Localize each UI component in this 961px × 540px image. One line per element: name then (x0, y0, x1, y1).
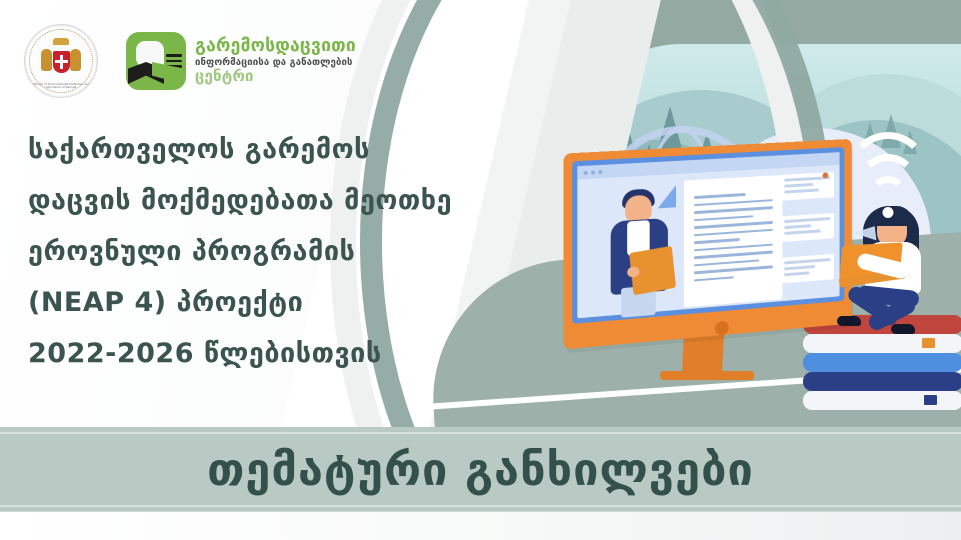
monitor-power-button[interactable] (715, 321, 729, 336)
monitor-screen (572, 147, 844, 324)
banner-underlay (0, 512, 961, 540)
monitor-stand (682, 332, 724, 374)
headline-line-1: საქართველოს გარემოს (28, 124, 452, 175)
lion-right-icon (70, 49, 81, 71)
logo-row: Ministry of Environmental Protection and… (24, 24, 356, 98)
headline-line-3: ეროვნული პროგრამის (28, 226, 452, 277)
banner-title: თემატური განხილვები (207, 447, 754, 492)
eiec-book-mark-icon (126, 32, 186, 90)
eiec-line-3: ცენტრი (195, 68, 356, 86)
bottom-banner: თემატური განხილვები (0, 427, 961, 512)
ministry-seal-logo: Ministry of Environmental Protection and… (24, 24, 98, 98)
shield-icon (53, 51, 70, 73)
screen-content (577, 152, 839, 318)
sidebar-card (781, 254, 834, 284)
shoe (837, 316, 861, 326)
sidebar-card (781, 213, 834, 242)
book-item (803, 372, 961, 391)
headline-line-2: დაცვის მოქმედებათა მეოთხე (28, 175, 452, 226)
document-preview (684, 175, 782, 307)
document-fold-icon (658, 185, 676, 208)
desktop-monitor (564, 139, 852, 349)
seal-caption: Ministry of Environmental Protection and… (25, 83, 97, 90)
window-dot-icon (598, 169, 602, 173)
eiec-line-1: გარემოსდაცვითი (195, 36, 356, 57)
eiec-logo: გარემოსდაცვითი ინფორმაციისა და განათლები… (126, 32, 356, 90)
book-item (803, 353, 961, 372)
wifi-dot (883, 207, 894, 218)
lion-left-icon (41, 49, 52, 71)
bookmark-icon (922, 338, 935, 348)
window-dot-icon (584, 170, 588, 174)
shoe (891, 324, 915, 334)
eiec-notch (136, 41, 164, 67)
book-item (803, 334, 961, 353)
eiec-wordmark: გარემოსდაცვითი ინფორმაციისა და განათლები… (195, 36, 356, 86)
bookmark-icon (924, 395, 937, 405)
presentation-slide: Ministry of Environmental Protection and… (0, 0, 961, 540)
headline-line-5: 2022-2026 წლებისთვის (28, 328, 452, 379)
wifi-icon (851, 164, 925, 218)
slide-headline: საქართველოს გარემოს დაცვის მოქმედებათა მ… (28, 124, 452, 379)
monitor-base (660, 371, 754, 380)
book-item (803, 391, 961, 410)
window-dot-icon (591, 170, 595, 174)
woman-with-laptop-avatar (833, 206, 953, 336)
webinar-illustration (555, 140, 961, 435)
crown-icon (53, 38, 69, 45)
headline-line-4: (NEAP 4) პროექტი (28, 277, 452, 328)
